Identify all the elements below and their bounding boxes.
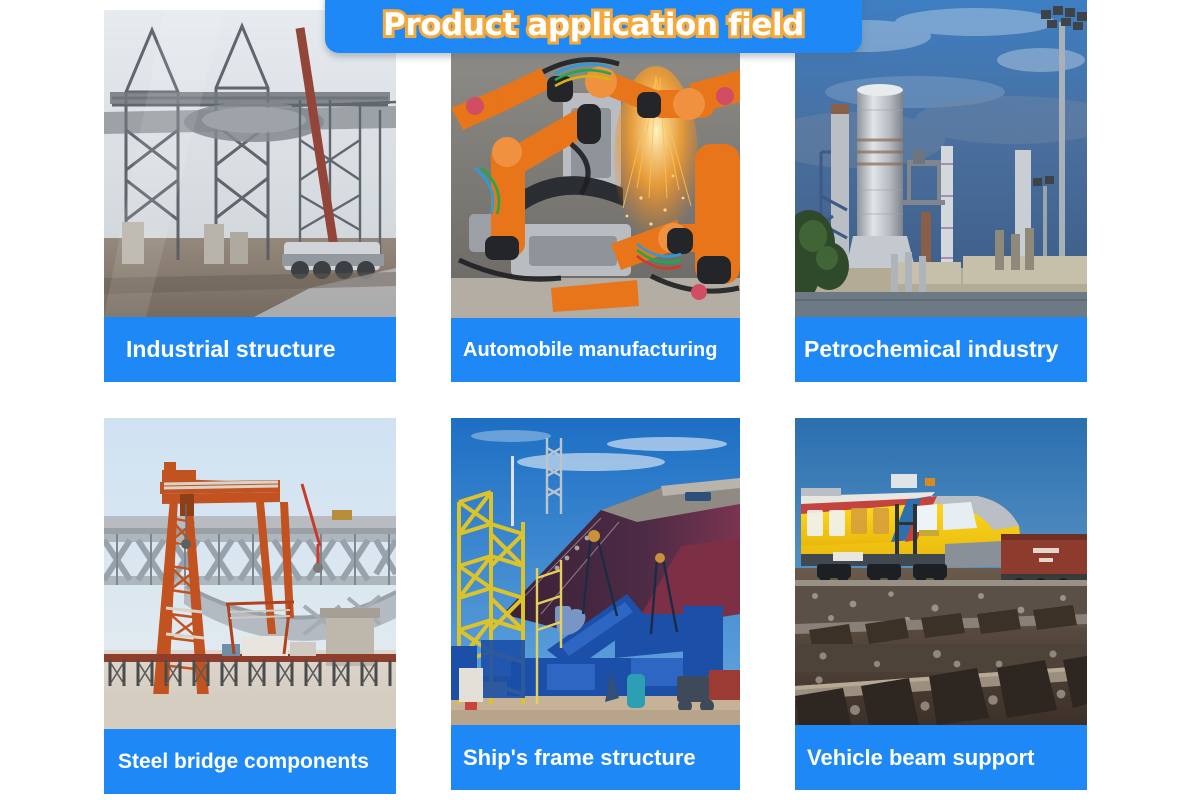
application-card-automobile-manufacturing[interactable]: Automobile manufacturing bbox=[451, 48, 740, 382]
application-card-label: Industrial structure bbox=[104, 317, 396, 382]
application-card-label: Steel bridge components bbox=[104, 729, 396, 794]
application-card-steel-bridge-components[interactable]: Steel bridge components bbox=[104, 418, 396, 794]
application-card-label: Vehicle beam support bbox=[795, 725, 1087, 790]
application-card-petrochemical-industry[interactable]: Petrochemical industry bbox=[795, 0, 1087, 382]
automobile-manufacturing-photo bbox=[451, 48, 740, 318]
label-text: Vehicle beam support bbox=[807, 745, 1034, 771]
page-title: Product application field bbox=[383, 7, 804, 43]
application-card-label: Petrochemical industry bbox=[795, 317, 1087, 382]
application-card-ship-frame-structure[interactable]: Ship's frame structure bbox=[451, 418, 740, 790]
label-text: Petrochemical industry bbox=[804, 336, 1058, 363]
label-text: Steel bridge components bbox=[118, 750, 369, 774]
industrial-structure-photo bbox=[104, 10, 396, 317]
ship-frame-structure-photo bbox=[451, 418, 740, 725]
application-card-vehicle-beam-support[interactable]: Vehicle beam support bbox=[795, 418, 1087, 790]
application-card-industrial-structure[interactable]: Industrial structure bbox=[104, 10, 396, 382]
steel-bridge-components-photo bbox=[104, 418, 396, 729]
application-card-label: Ship's frame structure bbox=[451, 725, 740, 790]
application-field-page: Industrial structure bbox=[0, 0, 1200, 800]
application-card-label: Automobile manufacturing bbox=[451, 318, 740, 382]
label-text: Automobile manufacturing bbox=[463, 339, 717, 362]
page-title-banner: Product application field bbox=[325, 0, 862, 53]
label-text: Industrial structure bbox=[126, 336, 336, 363]
vehicle-beam-support-photo bbox=[795, 418, 1087, 725]
label-text: Ship's frame structure bbox=[463, 745, 696, 771]
application-card-grid: Industrial structure bbox=[0, 0, 1200, 800]
